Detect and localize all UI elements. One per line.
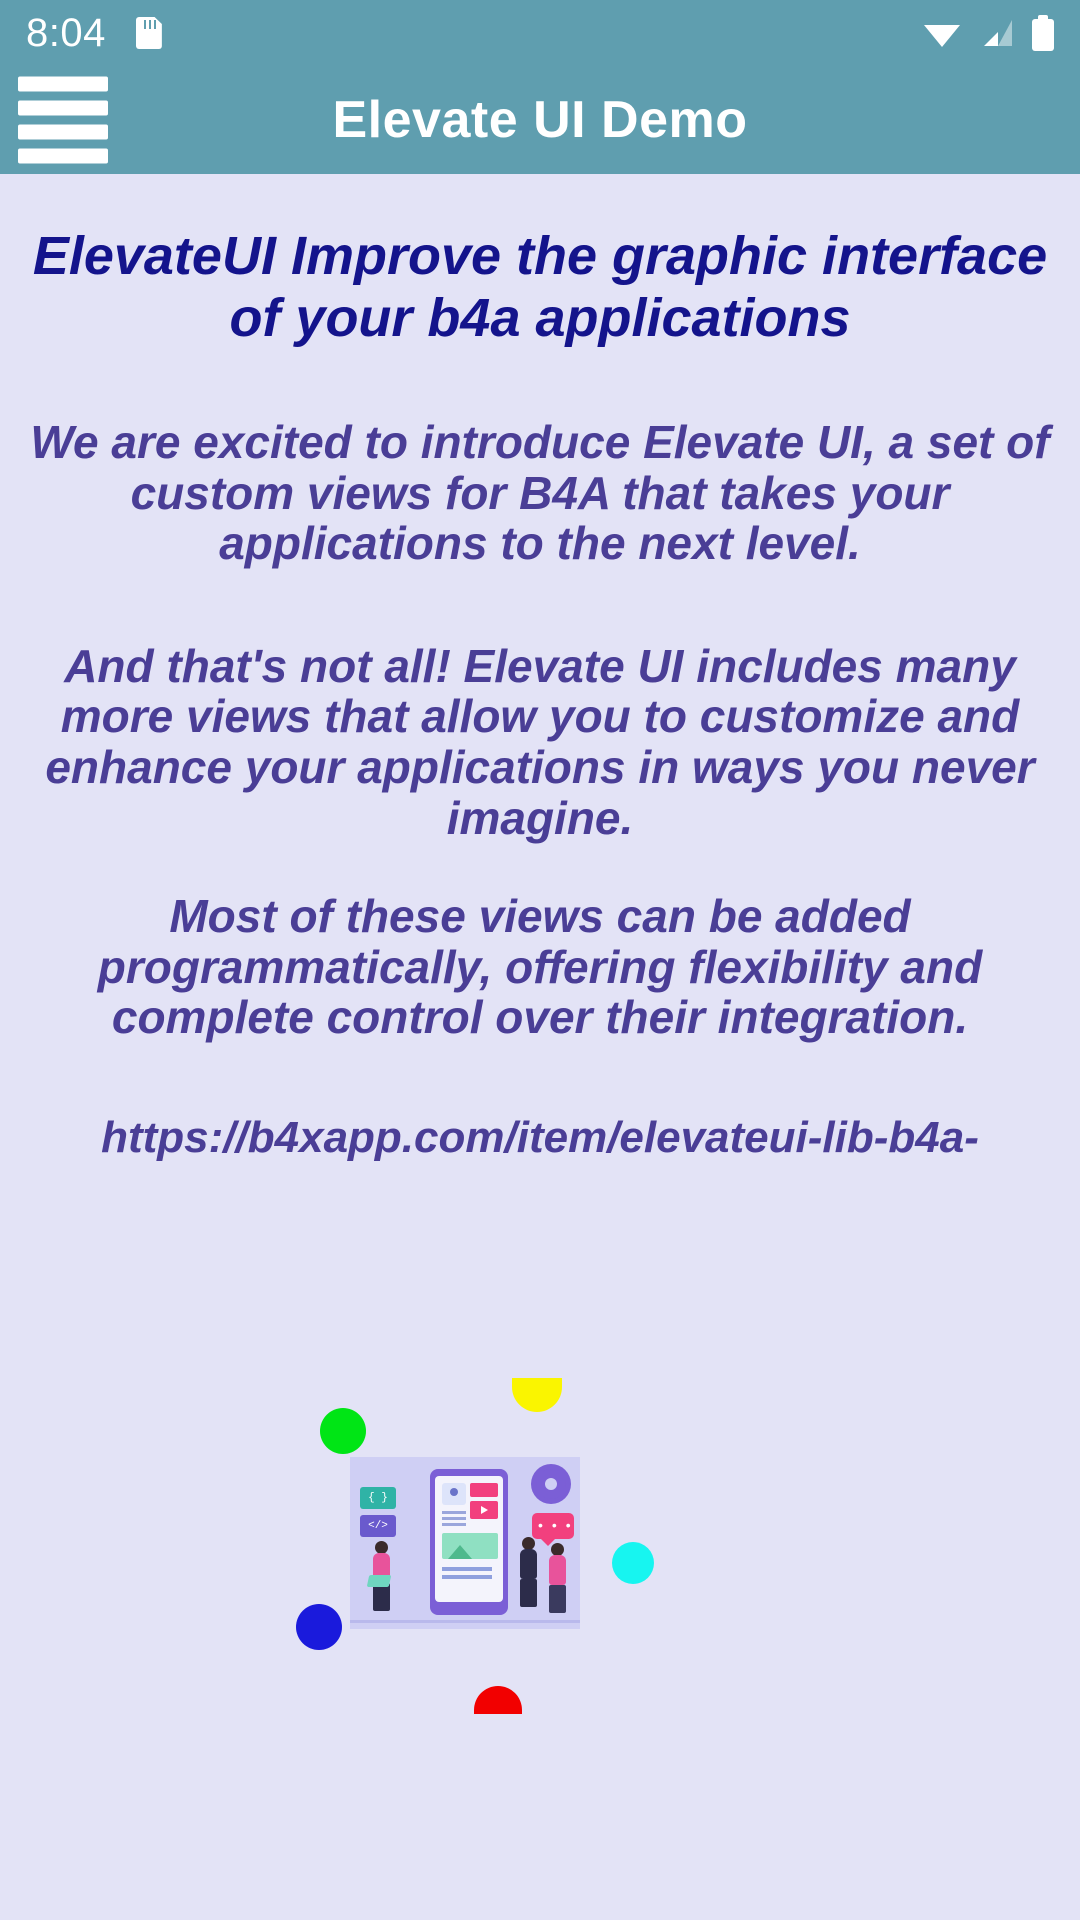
page-title: Elevate UI Demo — [0, 90, 1080, 150]
gear-icon — [536, 1469, 566, 1499]
battery-icon — [1032, 15, 1054, 51]
status-bar: 8:04 — [0, 0, 1080, 66]
media-card — [470, 1483, 498, 1497]
intro-paragraph: We are excited to introduce Elevate UI, … — [0, 417, 1080, 569]
hero-heading: ElevateUI Improve the graphic interface … — [0, 226, 1080, 349]
hamburger-menu-icon[interactable] — [18, 77, 108, 164]
programmatic-paragraph: Most of these views can be added program… — [0, 891, 1080, 1043]
code-braces-icon: { } — [360, 1487, 396, 1509]
sd-card-icon — [136, 17, 162, 49]
app-development-illustration: { } </> — [350, 1457, 580, 1629]
status-bar-clock: 8:04 — [26, 13, 106, 53]
yellow-dot-decoration — [512, 1378, 562, 1412]
person-with-laptop — [366, 1541, 400, 1615]
status-bar-left: 8:04 — [26, 13, 162, 53]
video-card — [470, 1501, 498, 1519]
red-dot-decoration — [474, 1686, 522, 1714]
green-dot-decoration — [320, 1408, 366, 1454]
blue-dot-decoration — [296, 1604, 342, 1650]
person-presenting — [542, 1543, 574, 1617]
code-angle-icon: </> — [360, 1515, 396, 1537]
text-lines-bottom — [442, 1567, 492, 1571]
status-bar-right — [922, 15, 1054, 51]
person-pointing — [513, 1537, 545, 1617]
app-bar: Elevate UI Demo — [0, 66, 1080, 174]
text-lines-top — [442, 1511, 466, 1514]
cellular-signal-icon — [980, 18, 1014, 48]
photo-widget — [442, 1533, 498, 1559]
cyan-dot-decoration — [612, 1542, 654, 1584]
wifi-icon — [922, 18, 962, 48]
features-paragraph: And that's not all! Elevate UI includes … — [0, 641, 1080, 843]
profile-card — [442, 1483, 466, 1505]
chat-bubble-icon — [532, 1513, 574, 1539]
main-content: ElevateUI Improve the graphic interface … — [0, 174, 1080, 1920]
ground-line — [350, 1620, 580, 1623]
library-url-link[interactable]: https://b4xapp.com/item/elevateui-lib-b4… — [0, 1113, 1080, 1163]
